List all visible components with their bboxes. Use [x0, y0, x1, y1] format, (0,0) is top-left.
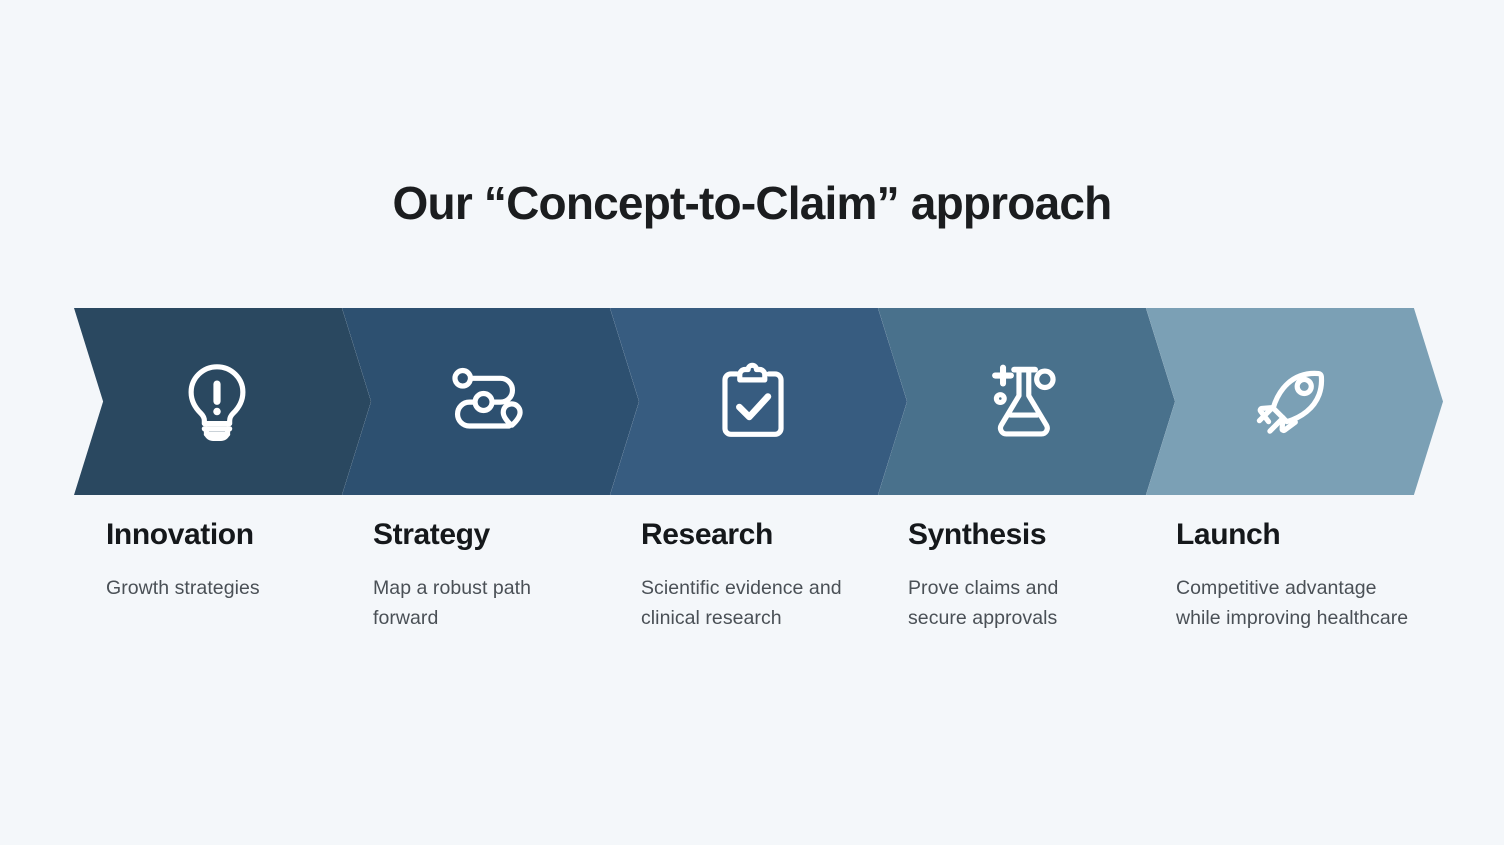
- caption-description: Scientific evidence and clinical researc…: [641, 573, 887, 635]
- caption-description: Competitive advantage while improving he…: [1176, 573, 1422, 635]
- caption-title: Strategy: [373, 518, 623, 553]
- process-step-synthesis[interactable]: [878, 308, 1175, 495]
- clipboard-check-icon: [707, 356, 799, 448]
- process-step-strategy[interactable]: [342, 308, 639, 495]
- process-step-innovation[interactable]: [74, 308, 371, 495]
- caption-title: Research: [641, 518, 891, 553]
- caption-description: Growth strategies: [106, 573, 346, 604]
- route-path-icon: [439, 356, 531, 448]
- caption-research: Research Scientific evidence and clinica…: [641, 518, 891, 634]
- caption-title: Synthesis: [908, 518, 1158, 553]
- caption-title: Innovation: [106, 518, 356, 553]
- slide-canvas: Our “Concept-to-Claim” approach: [0, 0, 1504, 845]
- caption-title: Launch: [1176, 518, 1426, 553]
- caption-launch: Launch Competitive advantage while impro…: [1176, 518, 1426, 634]
- process-chevron-band: [74, 308, 1430, 495]
- process-step-launch[interactable]: [1146, 308, 1443, 495]
- process-step-research[interactable]: [610, 308, 907, 495]
- caption-strategy: Strategy Map a robust path forward: [373, 518, 623, 634]
- page-title: Our “Concept-to-Claim” approach: [0, 176, 1504, 231]
- lightbulb-icon: [171, 356, 263, 448]
- process-captions: Innovation Growth strategies Strategy Ma…: [0, 518, 1504, 698]
- rocket-icon: [1243, 356, 1335, 448]
- caption-description: Prove claims and secure approvals: [908, 573, 1118, 635]
- caption-synthesis: Synthesis Prove claims and secure approv…: [908, 518, 1158, 634]
- flask-icon: [975, 356, 1067, 448]
- caption-innovation: Innovation Growth strategies: [106, 518, 356, 603]
- caption-description: Map a robust path forward: [373, 573, 593, 635]
